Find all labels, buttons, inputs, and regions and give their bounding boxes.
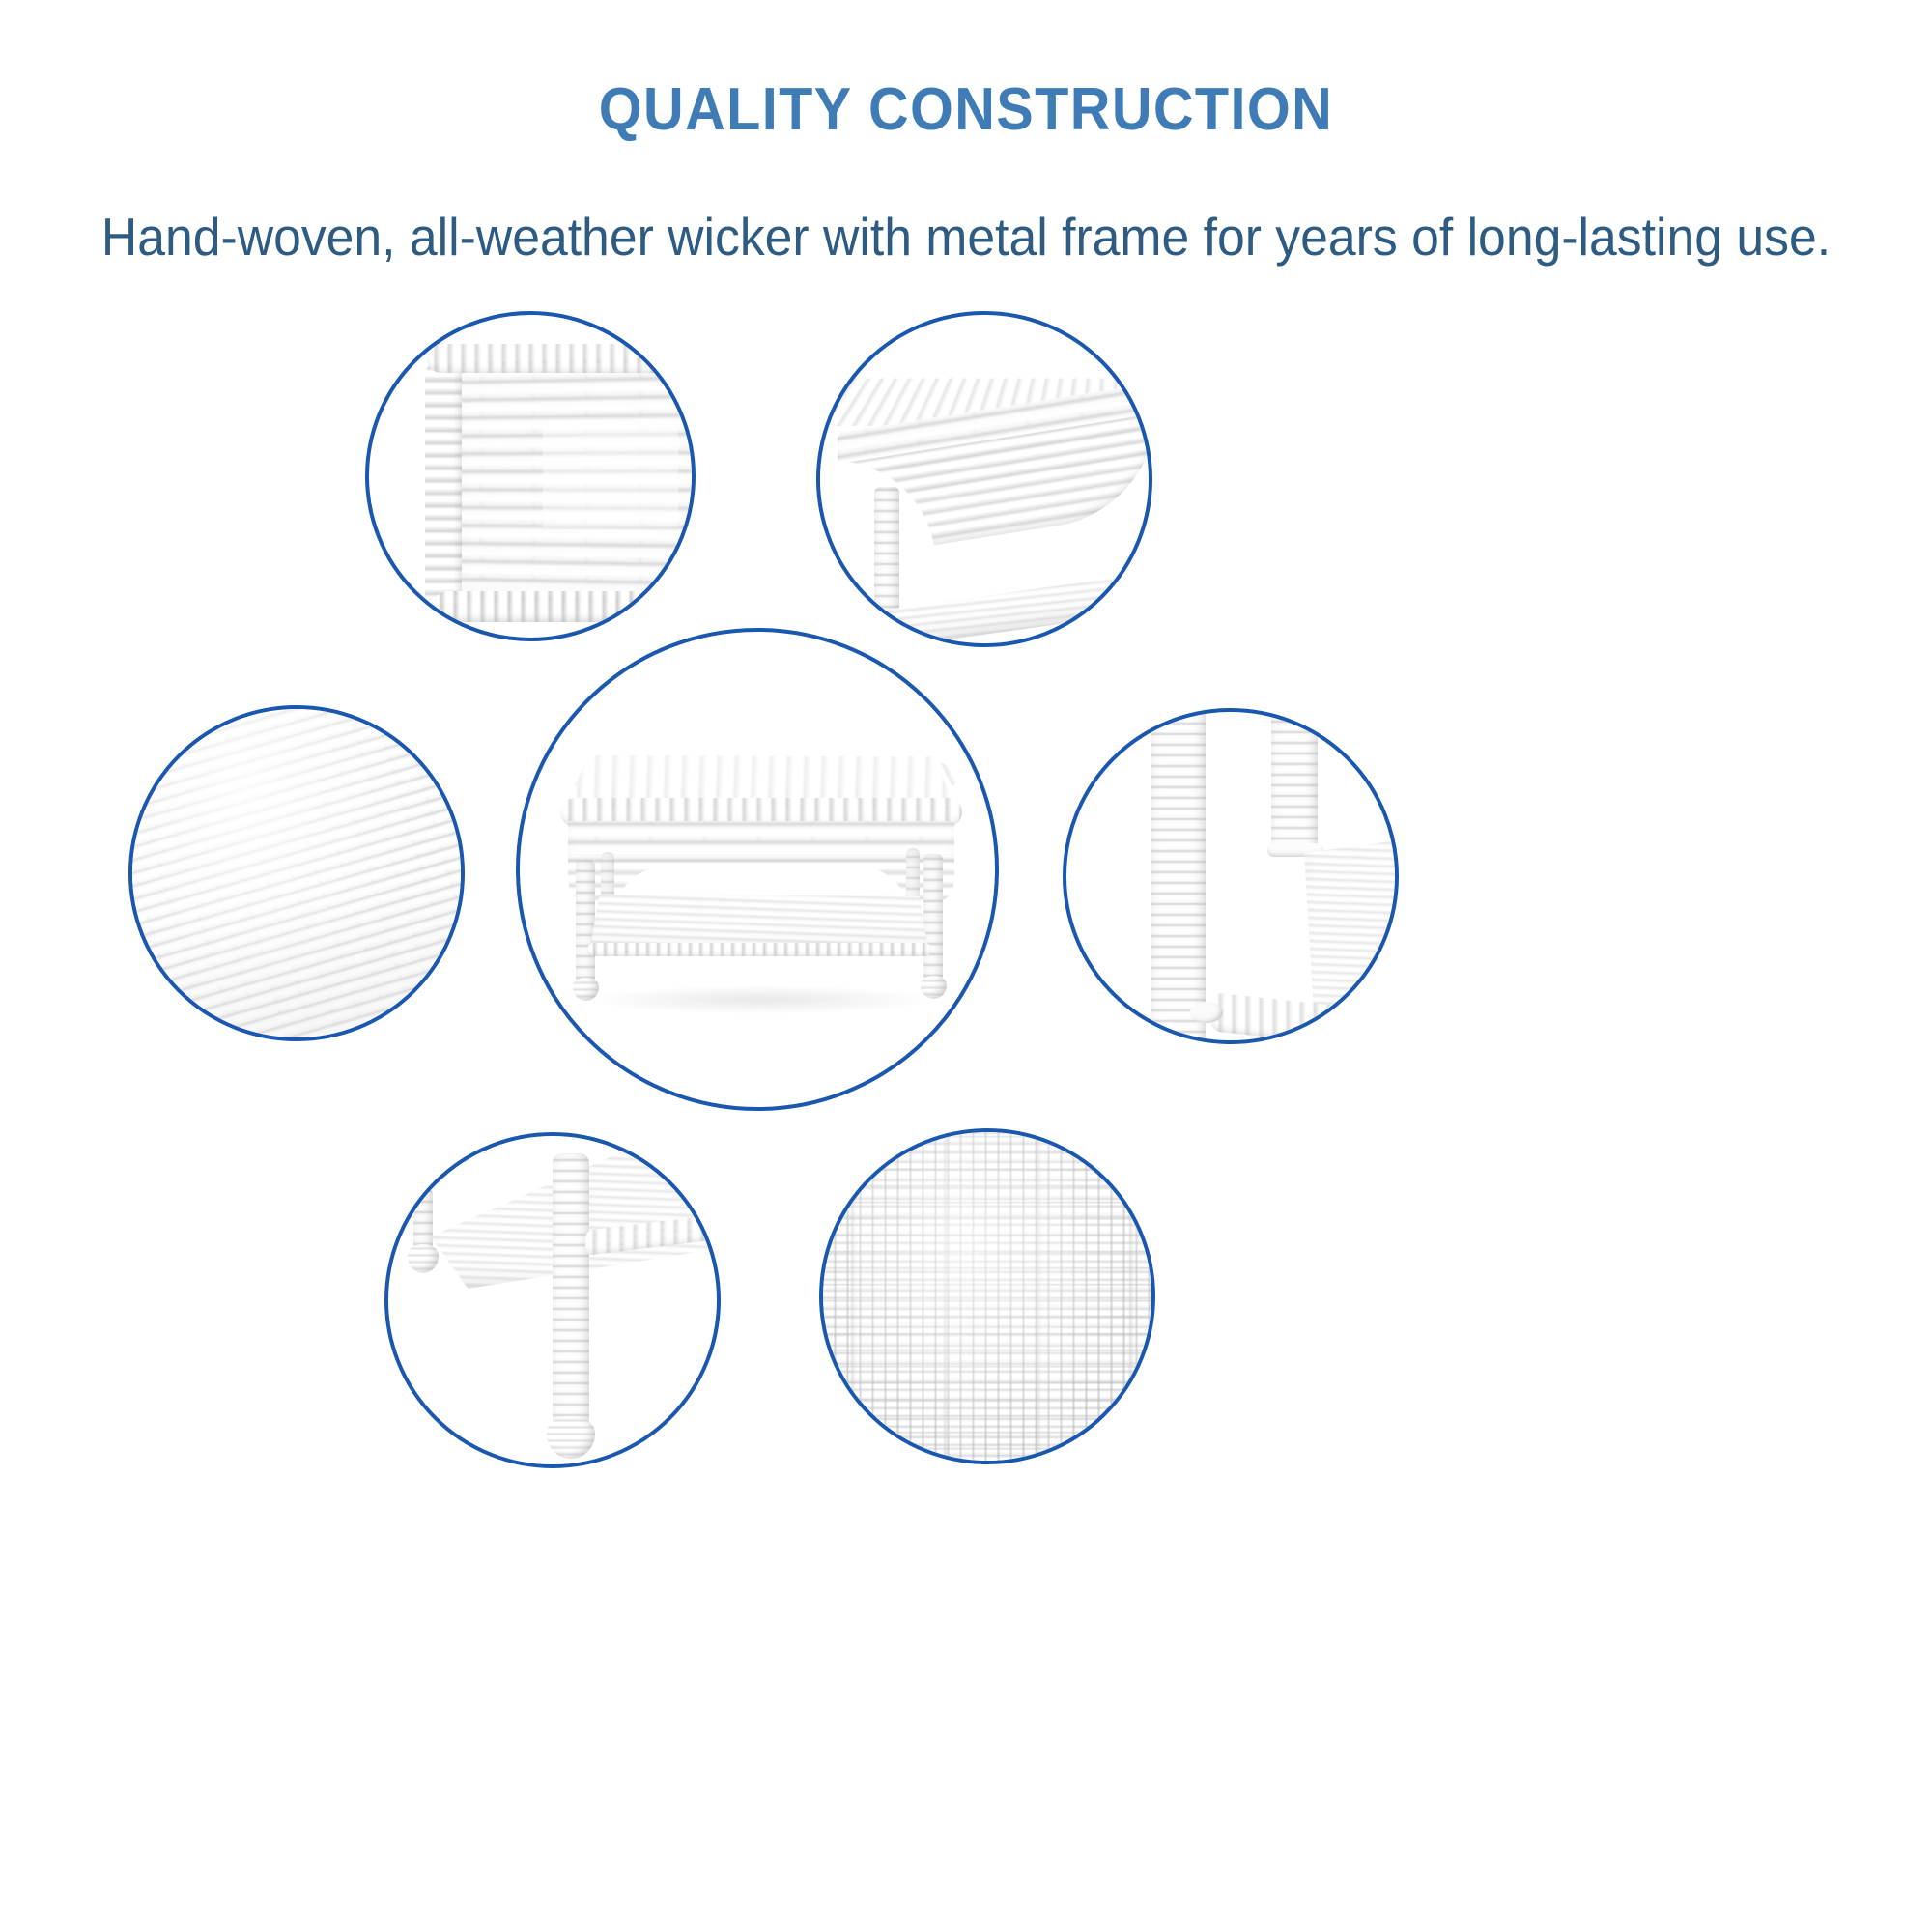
wicker-weave-macro-image — [823, 1132, 1151, 1461]
front-leg — [553, 1153, 589, 1432]
far-leg — [413, 1188, 433, 1250]
front-leg-foot — [547, 1416, 595, 1459]
fabric-under-shelf — [1304, 830, 1395, 1023]
callout-circle-leg-foot-and-shelf — [384, 1132, 721, 1468]
legs-and-fabric-shelf-image — [1066, 712, 1395, 1040]
callout-circle-wicker-panel-corner — [365, 311, 696, 641]
page-subtitle: Hand-woven, all-weather wicker with meta… — [58, 206, 1874, 268]
diagonal-weave-texture-image — [132, 709, 461, 1037]
callout-circle-full-coffee-table — [516, 628, 999, 1111]
wrapped-metal-leg-right — [1271, 712, 1318, 855]
page-title: QUALITY CONSTRUCTION — [68, 75, 1864, 144]
callout-circle-diagonal-weave-texture — [128, 705, 465, 1041]
table-corner-and-leg-image — [820, 315, 1149, 643]
callout-circle-legs-and-fabric-shelf — [1063, 708, 1399, 1044]
table-leg-front-left — [576, 860, 595, 983]
leg-foot-and-shelf-image — [388, 1136, 717, 1464]
far-leg-foot — [408, 1244, 439, 1273]
callout-circle-wicker-weave-macro — [819, 1128, 1155, 1464]
full-coffee-table-image — [520, 632, 995, 1107]
table-leg-front-right — [923, 854, 943, 981]
wrapped-metal-leg-left — [1151, 712, 1206, 1040]
callout-circle-table-corner-and-leg — [816, 311, 1152, 647]
table-leg — [874, 487, 899, 612]
wicker-panel-corner-image — [369, 315, 692, 638]
